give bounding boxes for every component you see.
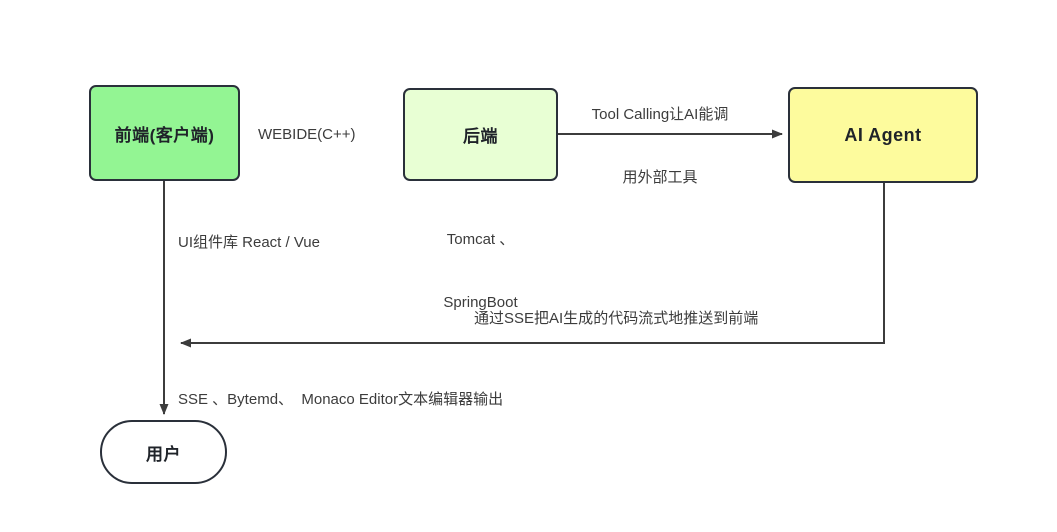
label-ui-library: UI组件库 React / Vue	[178, 232, 320, 253]
node-ai-agent[interactable]: AI Agent	[788, 87, 978, 183]
label-sse-push: 通过SSE把AI生成的代码流式地推送到前端	[474, 308, 758, 329]
label-sse-output: SSE 、Bytemd、 Monaco Editor文本编辑器输出	[178, 389, 503, 410]
label-tool-calling-line2: 用外部工具	[570, 167, 750, 188]
label-backend-stack-line1: Tomcat 、	[418, 229, 543, 250]
label-tool-calling-line1: Tool Calling让AI能调	[570, 104, 750, 125]
label-backend-stack: Tomcat 、 SpringBoot	[418, 187, 543, 355]
node-backend[interactable]: 后端	[403, 88, 558, 181]
node-frontend[interactable]: 前端(客户端)	[89, 85, 240, 181]
diagram-canvas: 前端(客户端) 后端 AI Agent 用户 WEBIDE(C++) Tool …	[0, 0, 1057, 532]
label-webide: WEBIDE(C++)	[258, 124, 356, 145]
label-tool-calling: Tool Calling让AI能调 用外部工具	[570, 62, 750, 230]
node-user[interactable]: 用户	[100, 420, 227, 484]
